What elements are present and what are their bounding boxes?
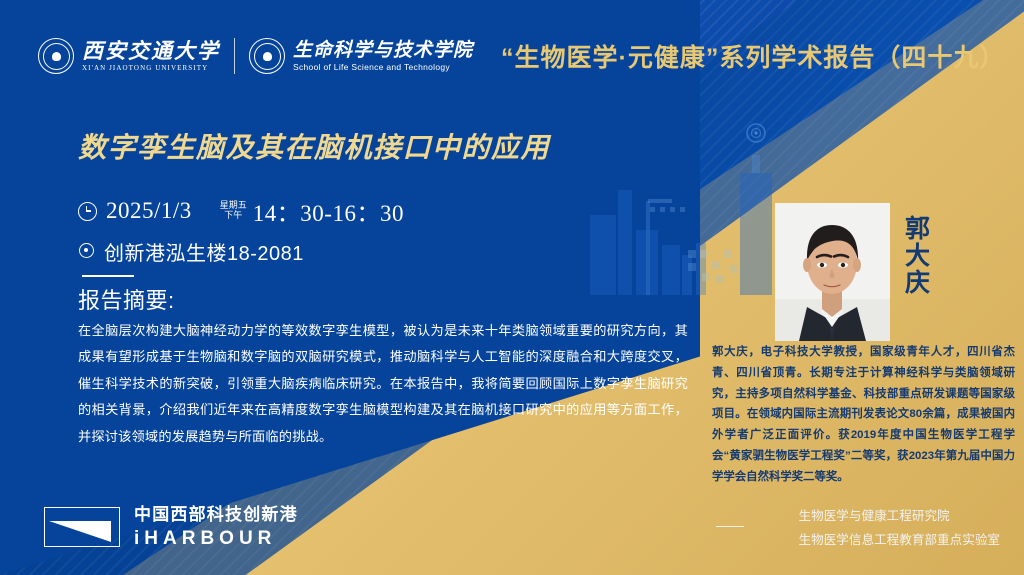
lecture-time: 14：30-16：30 xyxy=(253,194,404,228)
poster-header: 西安交通大学 XI'AN JIAOTONG UNIVERSITY 生命科学与技术… xyxy=(0,28,1024,84)
lecture-period: 下午 xyxy=(220,211,247,221)
iharbour-name-en: iHARBOUR xyxy=(134,528,298,549)
abstract-body: 在全脑层次构建大脑神经动力学的等效数字孪生模型，被认为是未来十年类脑领域重要的研… xyxy=(78,318,688,450)
venue-row: 创新港泓生楼18-2081 xyxy=(78,234,404,268)
datetime-row: 2025/1/3 星期五 下午 14：30-16：30 xyxy=(78,194,404,228)
institution-logos: 西安交通大学 XI'AN JIAOTONG UNIVERSITY 生命科学与技术… xyxy=(38,38,473,74)
university-seal-icon xyxy=(38,38,74,74)
weekday-period: 星期五 下午 xyxy=(220,201,247,220)
footer-rule xyxy=(716,526,744,528)
school-name-cn: 生命科学与技术学院 xyxy=(293,41,473,60)
clock-icon xyxy=(78,202,97,221)
organizer-line-1: 生物医学与健康工程研究院 xyxy=(799,505,1001,529)
school-seal-icon xyxy=(249,38,285,74)
iharbour-name-cn: 中国西部科技创新港 xyxy=(134,505,298,524)
iharbour-logo-icon xyxy=(44,507,120,547)
lecture-venue: 创新港泓生楼18-2081 xyxy=(104,237,304,266)
lecture-meta: 2025/1/3 星期五 下午 14：30-16：30 创新港泓生楼18-208… xyxy=(78,194,404,268)
speaker-name: 郭大庆 xyxy=(900,215,931,296)
university-name-cn: 西安交通大学 xyxy=(82,41,220,62)
location-pin-icon xyxy=(78,243,95,260)
lecture-date: 2025/1/3 xyxy=(106,198,192,224)
series-title: “生物医学·元健康”系列学术报告（四十九） xyxy=(501,38,1005,74)
school-name-en: School of Life Science and Technology xyxy=(293,63,473,72)
organizer-block: 生物医学与健康工程研究院 生物医学信息工程教育部重点实验室 xyxy=(799,505,1001,553)
school-name: 生命科学与技术学院 School of Life Science and Tec… xyxy=(293,41,473,72)
university-name: 西安交通大学 XI'AN JIAOTONG UNIVERSITY xyxy=(82,41,220,72)
speaker-portrait xyxy=(775,203,890,341)
iharbour-names: 中国西部科技创新港 iHARBOUR xyxy=(134,505,298,549)
iharbour-logo: 中国西部科技创新港 iHARBOUR xyxy=(44,505,298,549)
lecture-title: 数字孪生脑及其在脑机接口中的应用 xyxy=(78,126,550,166)
university-name-en: XI'AN JIAOTONG UNIVERSITY xyxy=(82,65,220,72)
organizer-line-2: 生物医学信息工程教育部重点实验室 xyxy=(799,529,1001,553)
abstract-divider xyxy=(82,275,134,277)
speaker-bio: 郭大庆，电子科技大学教授，国家级青年人才，四川省杰青、四川省顶青。长期专注于计算… xyxy=(712,342,1015,487)
abstract-heading: 报告摘要: xyxy=(78,283,175,315)
logo-divider xyxy=(234,38,235,74)
seminar-poster: 西安交通大学 XI'AN JIAOTONG UNIVERSITY 生命科学与技术… xyxy=(0,0,1024,575)
